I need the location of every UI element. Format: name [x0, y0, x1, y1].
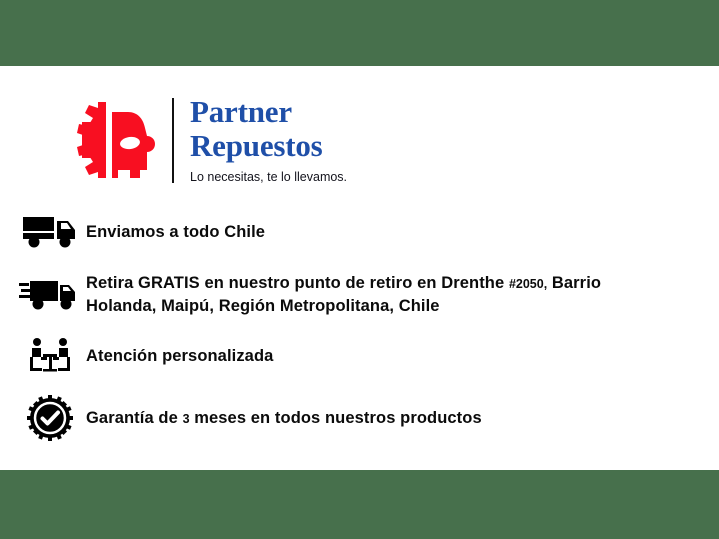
- feature-text-guarantee: Garantía de 3 meses en todos nuestros pr…: [86, 407, 482, 430]
- moving-truck-icon: [14, 277, 86, 311]
- brand-tagline: Lo necesitas, te lo llevamos.: [190, 169, 347, 185]
- guarantee-badge-check-icon: [14, 395, 86, 441]
- feature-row-pickup: Retira GRATIS en nuestro punto de retiro…: [14, 268, 704, 320]
- brand-name-line-1: Partner: [190, 95, 347, 129]
- delivery-truck-icon: [14, 215, 86, 249]
- feature-row-shipping: Enviamos a todo Chile: [14, 206, 704, 258]
- promo-banner: Partner Repuestos Lo necesitas, te lo ll…: [0, 0, 719, 539]
- feature-text-shipping: Enviamos a todo Chile: [86, 221, 265, 243]
- logo-divider: [172, 98, 174, 183]
- bottom-green-bar: [0, 470, 719, 539]
- logo-wordmark: Partner Repuestos Lo necesitas, te lo ll…: [190, 95, 347, 185]
- feature-text-pickup: Retira GRATIS en nuestro punto de retiro…: [86, 272, 606, 317]
- feature-row-guarantee: Garantía de 3 meses en todos nuestros pr…: [14, 392, 704, 444]
- feature-row-attention: Atención personalizada: [14, 330, 704, 382]
- people-at-table-icon: [14, 337, 86, 375]
- feature-text-attention: Atención personalizada: [86, 345, 273, 367]
- feature-list: Enviamos a todo Chile Retira GRATIS en n…: [14, 206, 704, 454]
- top-green-bar: [0, 0, 719, 66]
- brand-logo: Partner Repuestos Lo necesitas, te lo ll…: [62, 94, 347, 186]
- gear-car-logo-icon: [62, 96, 160, 184]
- brand-name-line-2: Repuestos: [190, 129, 347, 163]
